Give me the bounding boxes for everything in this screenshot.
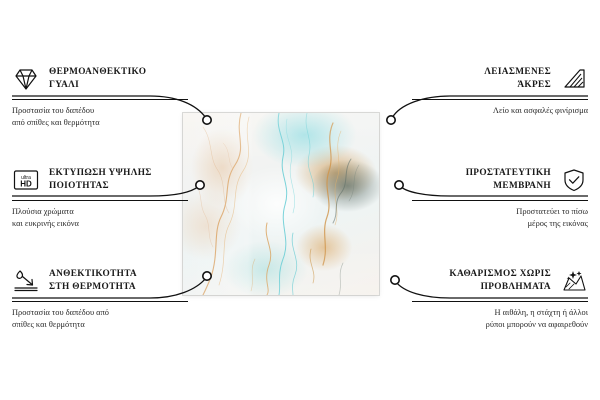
shield-check-icon: [560, 167, 588, 193]
marble-glass-panel: [183, 113, 379, 295]
marble-vein-pattern: [183, 113, 379, 295]
feature-polished-edges[interactable]: ΛΕΙΑΣΜΕΝΕΣ ΆΚΡΕΣ Λείο και ασφαλές φινίρι…: [412, 64, 588, 117]
divider: [12, 301, 188, 302]
feature-header: ultra HD ΕΚΤΥΠΩΣΗ ΥΨΗΛΗΣ ΠΟΙΟΤΗΤΑΣ: [12, 165, 188, 195]
svg-text:HD: HD: [20, 180, 32, 189]
feature-high-quality-print[interactable]: ultra HD ΕΚΤΥΠΩΣΗ ΥΨΗΛΗΣ ΠΟΙΟΤΗΤΑΣ Πλούσ…: [12, 165, 188, 231]
divider: [412, 200, 588, 201]
divider: [412, 301, 588, 302]
diamond-icon: [12, 66, 40, 92]
feature-title: ΛΕΙΑΣΜΕΝΕΣ ΆΚΡΕΣ: [484, 66, 551, 92]
feature-title: ΚΑΘΑΡΙΣΜΟΣ ΧΩΡΙΣ ΠΡΟΒΛΗΜΑΤΑ: [449, 268, 551, 294]
connector-dot-right-3: [391, 276, 399, 284]
heat-resistance-icon: [12, 268, 40, 294]
feature-header: ΠΡΟΣΤΑΤΕΥΤΙΚΗ ΜΕΜΒΡΑΝΗ: [412, 165, 588, 195]
feature-title: ΘΕΡΜΟΑΝΘΕΚΤΙΚΟ ΓΥΑΛΙ: [49, 66, 146, 92]
feature-header: ΛΕΙΑΣΜΕΝΕΣ ΆΚΡΕΣ: [412, 64, 588, 94]
ultra-hd-badge-icon: ultra HD: [12, 167, 40, 193]
product-image: [183, 113, 379, 295]
feature-title: ΕΚΤΥΠΩΣΗ ΥΨΗΛΗΣ ΠΟΙΟΤΗΤΑΣ: [49, 167, 152, 193]
divider: [12, 99, 188, 100]
feature-title: ΠΡΟΣΤΑΤΕΥΤΙΚΗ ΜΕΜΒΡΑΝΗ: [466, 167, 551, 193]
infographic-canvas: ΘΕΡΜΟΑΝΘΕΚΤΙΚΟ ΓΥΑΛΙ Προστασία του δαπέδ…: [0, 0, 600, 400]
easy-clean-sparkle-icon: [560, 268, 588, 294]
feature-header: ΘΕΡΜΟΑΝΘΕΚΤΙΚΟ ΓΥΑΛΙ: [12, 64, 188, 94]
feature-protective-film[interactable]: ΠΡΟΣΤΑΤΕΥΤΙΚΗ ΜΕΜΒΡΑΝΗ Προστατεύει το πί…: [412, 165, 588, 231]
feature-header: ΚΑΘΑΡΙΣΜΟΣ ΧΩΡΙΣ ΠΡΟΒΛΗΜΑΤΑ: [412, 266, 588, 296]
connector-dot-right-1: [387, 116, 395, 124]
feature-heat-durability[interactable]: ΑΝΘΕΚΤΙΚΟΤΗΤΑ ΣΤΗ ΘΕΡΜΟΤΗΤΑ Προστασία το…: [12, 266, 188, 332]
feature-heat-resistant-glass[interactable]: ΘΕΡΜΟΑΝΘΕΚΤΙΚΟ ΓΥΑΛΙ Προστασία του δαπέδ…: [12, 64, 188, 130]
polished-edges-icon: [560, 66, 588, 92]
divider: [412, 99, 588, 100]
feature-header: ΑΝΘΕΚΤΙΚΟΤΗΤΑ ΣΤΗ ΘΕΡΜΟΤΗΤΑ: [12, 266, 188, 296]
divider: [12, 200, 188, 201]
connector-dot-right-2: [395, 181, 403, 189]
feature-easy-cleaning[interactable]: ΚΑΘΑΡΙΣΜΟΣ ΧΩΡΙΣ ΠΡΟΒΛΗΜΑΤΑ Η αιθάλη, η …: [412, 266, 588, 332]
feature-title: ΑΝΘΕΚΤΙΚΟΤΗΤΑ ΣΤΗ ΘΕΡΜΟΤΗΤΑ: [49, 268, 137, 294]
